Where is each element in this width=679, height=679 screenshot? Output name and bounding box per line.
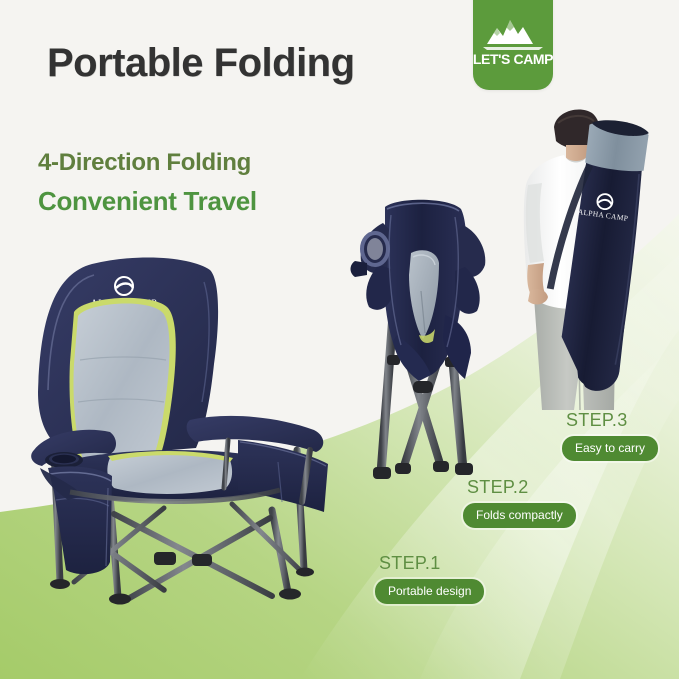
step-3-caption[interactable]: Easy to carry <box>562 436 658 461</box>
page-title: Portable Folding <box>47 43 355 83</box>
step-callout-1: STEP.1 Portable design <box>375 553 484 604</box>
person-carrying-bag-image: ALPHA CAMP <box>498 105 674 410</box>
open-camping-chair-image: ALPHA CAMP <box>14 252 354 612</box>
step-3-label: STEP.3 <box>562 410 658 431</box>
step-callout-3: STEP.3 Easy to carry <box>562 410 658 461</box>
folded-camping-chair-image <box>345 195 500 515</box>
step-1-label: STEP.1 <box>375 553 484 574</box>
subtitle-secondary: Convenient Travel <box>38 186 257 217</box>
subtitle-primary: 4-Direction Folding <box>38 149 251 177</box>
step-2-label: STEP.2 <box>463 477 576 498</box>
product-feature-image: LET'S CAMP Portable Folding 4-Direction … <box>0 0 679 679</box>
step-2-caption[interactable]: Folds compactly <box>463 503 576 528</box>
logo-wordmark: LET'S CAMP <box>473 51 553 67</box>
mountain-icon: LET'S CAMP <box>473 0 553 90</box>
brand-logo: LET'S CAMP <box>473 0 553 90</box>
step-1-caption[interactable]: Portable design <box>375 579 484 604</box>
step-callout-2: STEP.2 Folds compactly <box>463 477 576 528</box>
